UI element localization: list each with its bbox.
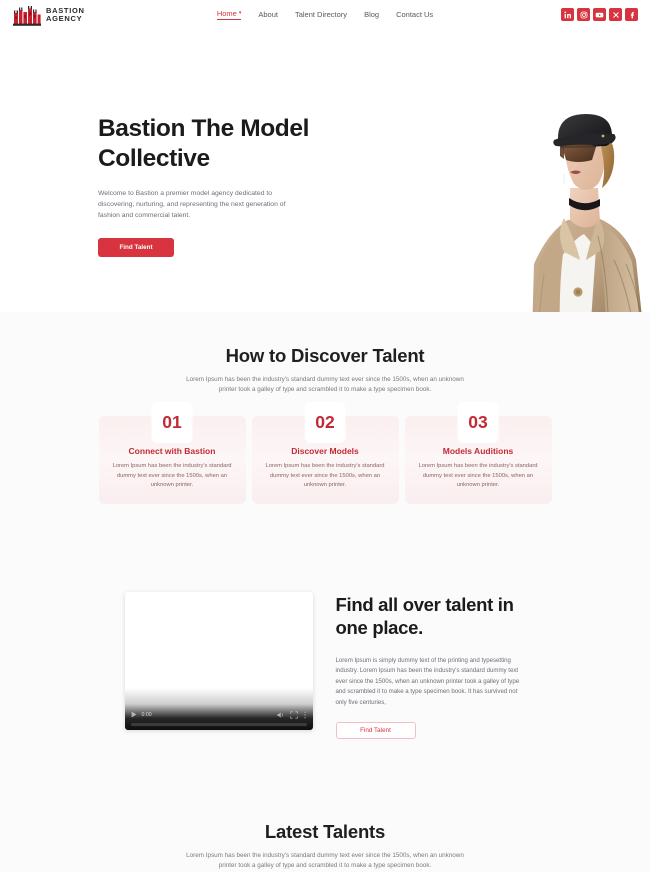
hero-copy: Bastion The Model Collective Welcome to … <box>98 114 330 257</box>
discover-card[interactable]: 03 Models Auditions Lorem Ipsum has been… <box>405 416 552 504</box>
card-text: Lorem Ipsum has been the industry's stan… <box>110 462 234 490</box>
discover-subtitle: Lorem Ipsum has been the industry's stan… <box>186 375 464 395</box>
nav-item-label: Contact Us <box>396 10 433 19</box>
social-links <box>478 8 638 21</box>
card-title: Models Auditions <box>405 446 552 456</box>
nav-item-home[interactable]: Home ▾ <box>217 9 242 20</box>
step-number-badge: 03 <box>458 402 499 443</box>
linkedin-icon[interactable] <box>561 8 574 21</box>
latest-talents-header: Latest Talents Lorem Ipsum has been the … <box>0 821 650 871</box>
x-twitter-icon[interactable] <box>609 8 622 21</box>
video-current-time: 0:00 <box>142 712 152 718</box>
chevron-down-icon: ▾ <box>239 11 242 16</box>
video-progress-bar[interactable] <box>131 723 307 726</box>
find-all-talent-title: Find all over talent in one place. <box>336 594 526 640</box>
find-all-talent-copy: Find all over talent in one place. Lorem… <box>336 592 526 739</box>
site-header: BASTION AGENCY Home ▾ About Talent Direc… <box>0 0 650 29</box>
nav-item-label: Talent Directory <box>295 10 347 19</box>
hero-subtitle: Welcome to Bastion a premier model agenc… <box>98 188 307 221</box>
volume-icon[interactable] <box>277 711 285 719</box>
hero-model-photo <box>502 114 650 312</box>
nav-item-label: About <box>258 10 278 19</box>
step-number-badge: 01 <box>152 402 193 443</box>
latest-talents-subtitle: Lorem Ipsum has been the industry's stan… <box>186 851 464 871</box>
brand-name-line2: AGENCY <box>46 15 85 23</box>
hero-title: Bastion The Model Collective <box>98 114 330 174</box>
find-all-talent-button[interactable]: Find Talent <box>336 722 416 739</box>
hero-section: Bastion The Model Collective Welcome to … <box>0 29 650 312</box>
card-text: Lorem Ipsum has been the industry's stan… <box>416 462 540 490</box>
nav-item-label: Home <box>217 9 237 18</box>
brand-logo[interactable]: BASTION AGENCY <box>12 4 172 26</box>
brand-wordmark: BASTION AGENCY <box>46 7 85 23</box>
step-number-badge: 02 <box>305 402 346 443</box>
main-nav: Home ▾ About Talent Directory Blog Conta… <box>172 9 478 20</box>
discover-card[interactable]: 01 Connect with Bastion Lorem Ipsum has … <box>99 416 246 504</box>
discover-header: How to Discover Talent Lorem Ipsum has b… <box>0 345 650 395</box>
fullscreen-icon[interactable] <box>290 711 298 719</box>
nav-item-contact-us[interactable]: Contact Us <box>396 10 433 20</box>
video-controls-row: 0:00 <box>131 709 307 720</box>
card-title: Connect with Bastion <box>99 446 246 456</box>
latest-talents-section: Latest Talents Lorem Ipsum has been the … <box>0 787 650 871</box>
facebook-icon[interactable] <box>625 8 638 21</box>
youtube-icon[interactable] <box>593 8 606 21</box>
video-player[interactable]: 0:00 <box>125 592 313 730</box>
instagram-icon[interactable] <box>577 8 590 21</box>
card-title: Discover Models <box>252 446 399 456</box>
discover-card[interactable]: 02 Discover Models Lorem Ipsum has been … <box>252 416 399 504</box>
discover-cards: 01 Connect with Bastion Lorem Ipsum has … <box>0 416 650 504</box>
latest-talents-title: Latest Talents <box>0 821 650 843</box>
more-options-icon[interactable] <box>303 711 307 719</box>
discover-title: How to Discover Talent <box>0 345 650 367</box>
find-all-talent-text: Lorem Ipsum is simply dummy text of the … <box>336 656 526 708</box>
nav-item-talent-directory[interactable]: Talent Directory <box>295 10 347 20</box>
nav-item-about[interactable]: About <box>258 10 278 20</box>
play-icon[interactable] <box>131 711 137 718</box>
nav-item-blog[interactable]: Blog <box>364 10 379 20</box>
castle-fortress-icon <box>12 4 42 26</box>
find-all-talent-section: 0:00 <box>0 530 650 787</box>
nav-item-label: Blog <box>364 10 379 19</box>
card-text: Lorem Ipsum has been the industry's stan… <box>263 462 387 490</box>
hero-find-talent-button[interactable]: Find Talent <box>98 238 174 257</box>
discover-talent-section: How to Discover Talent Lorem Ipsum has b… <box>0 312 650 530</box>
video-controls: 0:00 <box>125 704 313 730</box>
